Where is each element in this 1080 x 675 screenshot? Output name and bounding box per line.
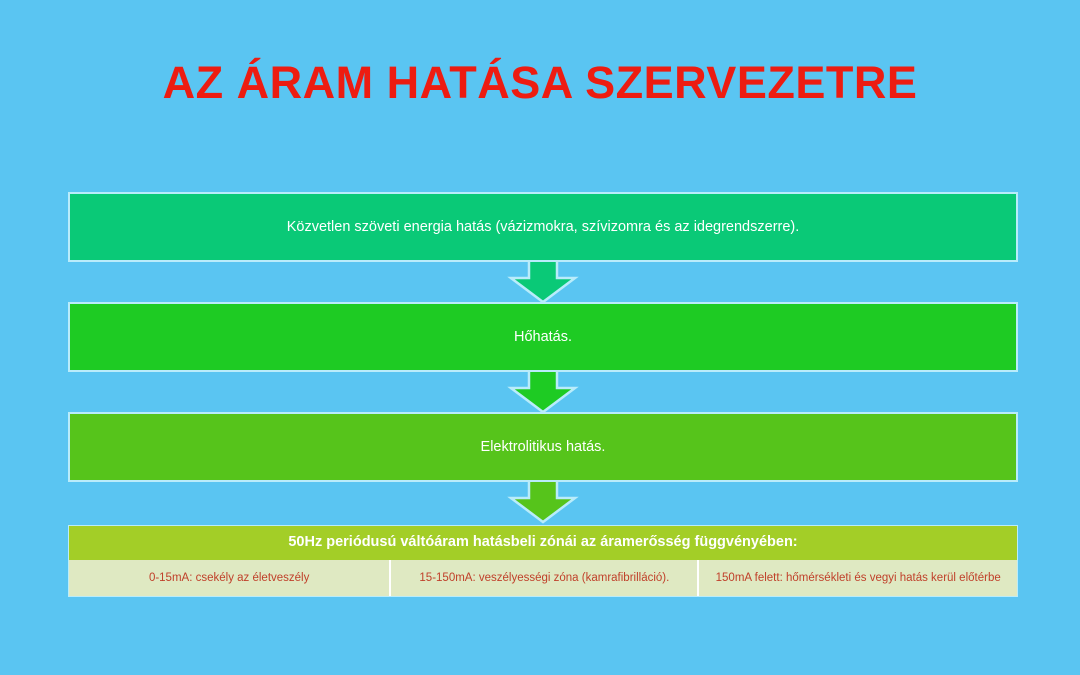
zones-table-row: 0-15mA: csekély az életveszély 15-150mA:… [69, 560, 1017, 596]
flow-step-1-label: Közvetlen szöveti energia hatás (vázizmo… [287, 218, 800, 237]
arrow-container-3 [68, 482, 1018, 522]
zone-cell-low[interactable]: 0-15mA: csekély az életveszély [69, 560, 391, 596]
flow-step-2[interactable]: Hőhatás. [68, 302, 1018, 372]
zone-cell-medium[interactable]: 15-150mA: veszélyességi zóna (kamrafibri… [391, 560, 699, 596]
zone-cell-high[interactable]: 150mA felett: hőmérsékleti és vegyi hatá… [699, 560, 1017, 596]
flowchart: Közvetlen szöveti energia hatás (vázizmo… [68, 192, 1018, 522]
flow-step-1[interactable]: Közvetlen szöveti energia hatás (vázizmo… [68, 192, 1018, 262]
zones-table: 50Hz periódusú váltóáram hatásbeli zónái… [68, 525, 1018, 597]
down-arrow-2-icon [507, 370, 579, 414]
flow-step-3-label: Elektrolitikus hatás. [481, 438, 606, 457]
arrow-container-2 [68, 372, 1018, 412]
arrow-container-1 [68, 262, 1018, 302]
flow-step-2-label: Hőhatás. [514, 328, 572, 347]
page-title: AZ ÁRAM HATÁSA SZERVEZETRE [0, 58, 1080, 108]
zones-table-header: 50Hz periódusú váltóáram hatásbeli zónái… [69, 526, 1017, 560]
down-arrow-3-icon [507, 480, 579, 524]
flow-step-3[interactable]: Elektrolitikus hatás. [68, 412, 1018, 482]
down-arrow-1-icon [507, 260, 579, 304]
